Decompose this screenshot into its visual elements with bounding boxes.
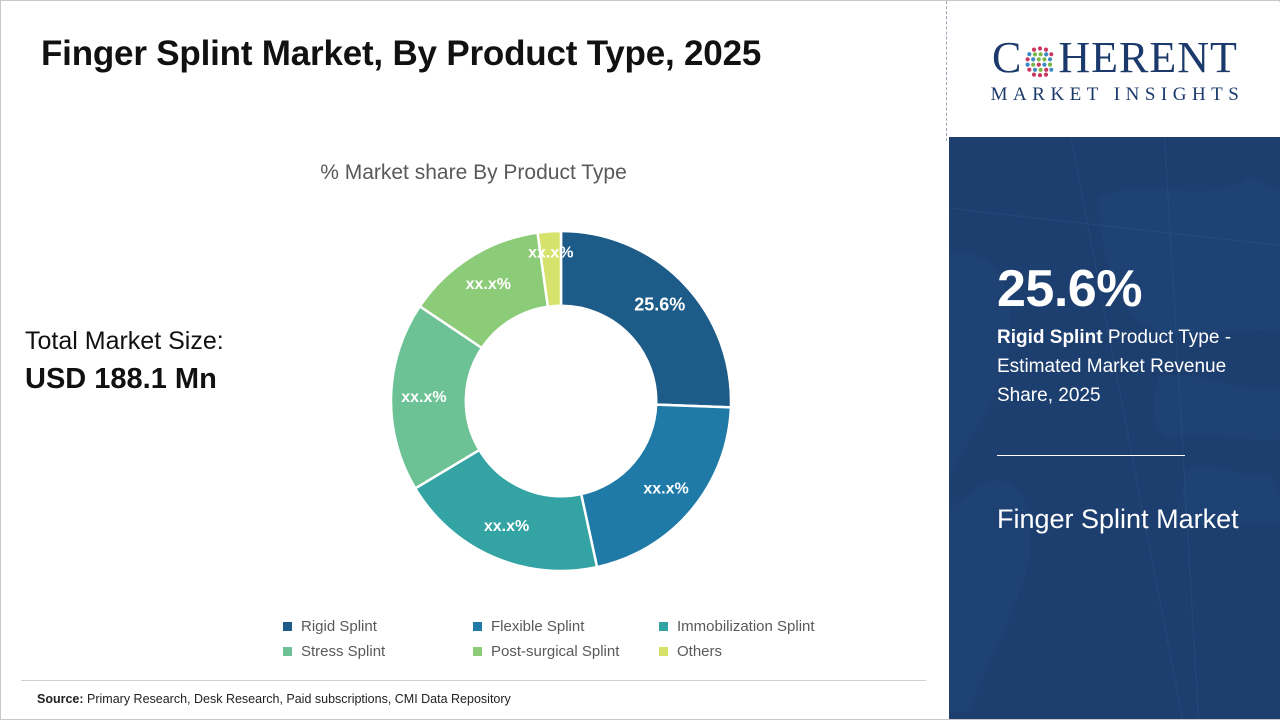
donut-slice-label: xx.x%: [528, 245, 573, 262]
infographic-page: Finger Splint Market, By Product Type, 2…: [0, 0, 1280, 720]
legend-label: Post-surgical Splint: [491, 643, 619, 660]
legend-item-others[interactable]: Others: [659, 643, 879, 660]
total-market-size-label: Total Market Size:: [25, 323, 224, 359]
donut-slice-label: xx.x%: [401, 389, 446, 406]
source-note: Source: Primary Research, Desk Research,…: [37, 692, 511, 706]
legend-row: Stress Splint Post-surgical Splint Other…: [283, 643, 883, 660]
brand-logo[interactable]: C: [949, 2, 1280, 137]
donut-slice-label: xx.x%: [643, 480, 688, 497]
legend-item-flexible-splint[interactable]: Flexible Splint: [473, 618, 659, 635]
legend-swatch: [659, 622, 668, 631]
legend-item-rigid-splint[interactable]: Rigid Splint: [283, 618, 473, 635]
total-market-size-value: USD 188.1 Mn: [25, 359, 224, 399]
logo-letter-c: C: [992, 34, 1022, 82]
legend-item-post-surgical-splint[interactable]: Post-surgical Splint: [473, 643, 659, 660]
source-divider: [21, 680, 926, 681]
legend-swatch: [473, 647, 482, 656]
legend-label: Immobilization Splint: [677, 618, 815, 635]
right-panel: C: [949, 1, 1280, 719]
legend-label: Flexible Splint: [491, 618, 584, 635]
donut-slice-label: xx.x%: [466, 276, 511, 293]
legend-swatch: [473, 622, 482, 631]
chart-legend: Rigid Splint Flexible Splint Immobilizat…: [283, 618, 883, 668]
legend-swatch: [659, 647, 668, 656]
globe-icon: [1023, 41, 1057, 75]
world-map-texture: [949, 137, 1280, 719]
right-stat-panel: 25.6% Rigid Splint Product Type - Estima…: [949, 137, 1280, 719]
stat-percentage: 25.6%: [997, 259, 1142, 319]
donut-chart: 25.6%xx.x%xx.x%xx.x%xx.x%xx.x%: [391, 231, 731, 571]
source-label: Source:: [37, 692, 84, 706]
donut-slice[interactable]: [561, 231, 731, 407]
logo-subtitle: MARKET INSIGHTS: [986, 84, 1245, 106]
legend-label: Others: [677, 643, 722, 660]
left-panel: Finger Splint Market, By Product Type, 2…: [1, 1, 946, 719]
stat-description: Rigid Splint Product Type - Estimated Ma…: [997, 323, 1265, 410]
legend-item-immobilization-splint[interactable]: Immobilization Splint: [659, 618, 879, 635]
total-market-size: Total Market Size: USD 188.1 Mn: [25, 323, 224, 399]
legend-label: Stress Splint: [301, 643, 385, 660]
legend-swatch: [283, 647, 292, 656]
logo-word-herent: HERENT: [1058, 34, 1238, 82]
legend-swatch: [283, 622, 292, 631]
logo-wordmark: C: [992, 34, 1238, 82]
stat-description-highlight: Rigid Splint: [997, 327, 1103, 348]
stat-divider: [997, 455, 1185, 456]
legend-row: Rigid Splint Flexible Splint Immobilizat…: [283, 618, 883, 635]
chart-subtitle: % Market share By Product Type: [1, 161, 946, 185]
donut-chart-svg: 25.6%xx.x%xx.x%xx.x%xx.x%xx.x%: [391, 231, 731, 571]
page-title: Finger Splint Market, By Product Type, 2…: [41, 34, 761, 74]
donut-slice-label: 25.6%: [634, 295, 685, 315]
legend-item-stress-splint[interactable]: Stress Splint: [283, 643, 473, 660]
donut-slice-label: xx.x%: [484, 518, 529, 535]
legend-label: Rigid Splint: [301, 618, 377, 635]
source-text: Primary Research, Desk Research, Paid su…: [84, 692, 511, 706]
panel-divider: [946, 1, 947, 141]
market-name: Finger Splint Market: [997, 497, 1247, 541]
